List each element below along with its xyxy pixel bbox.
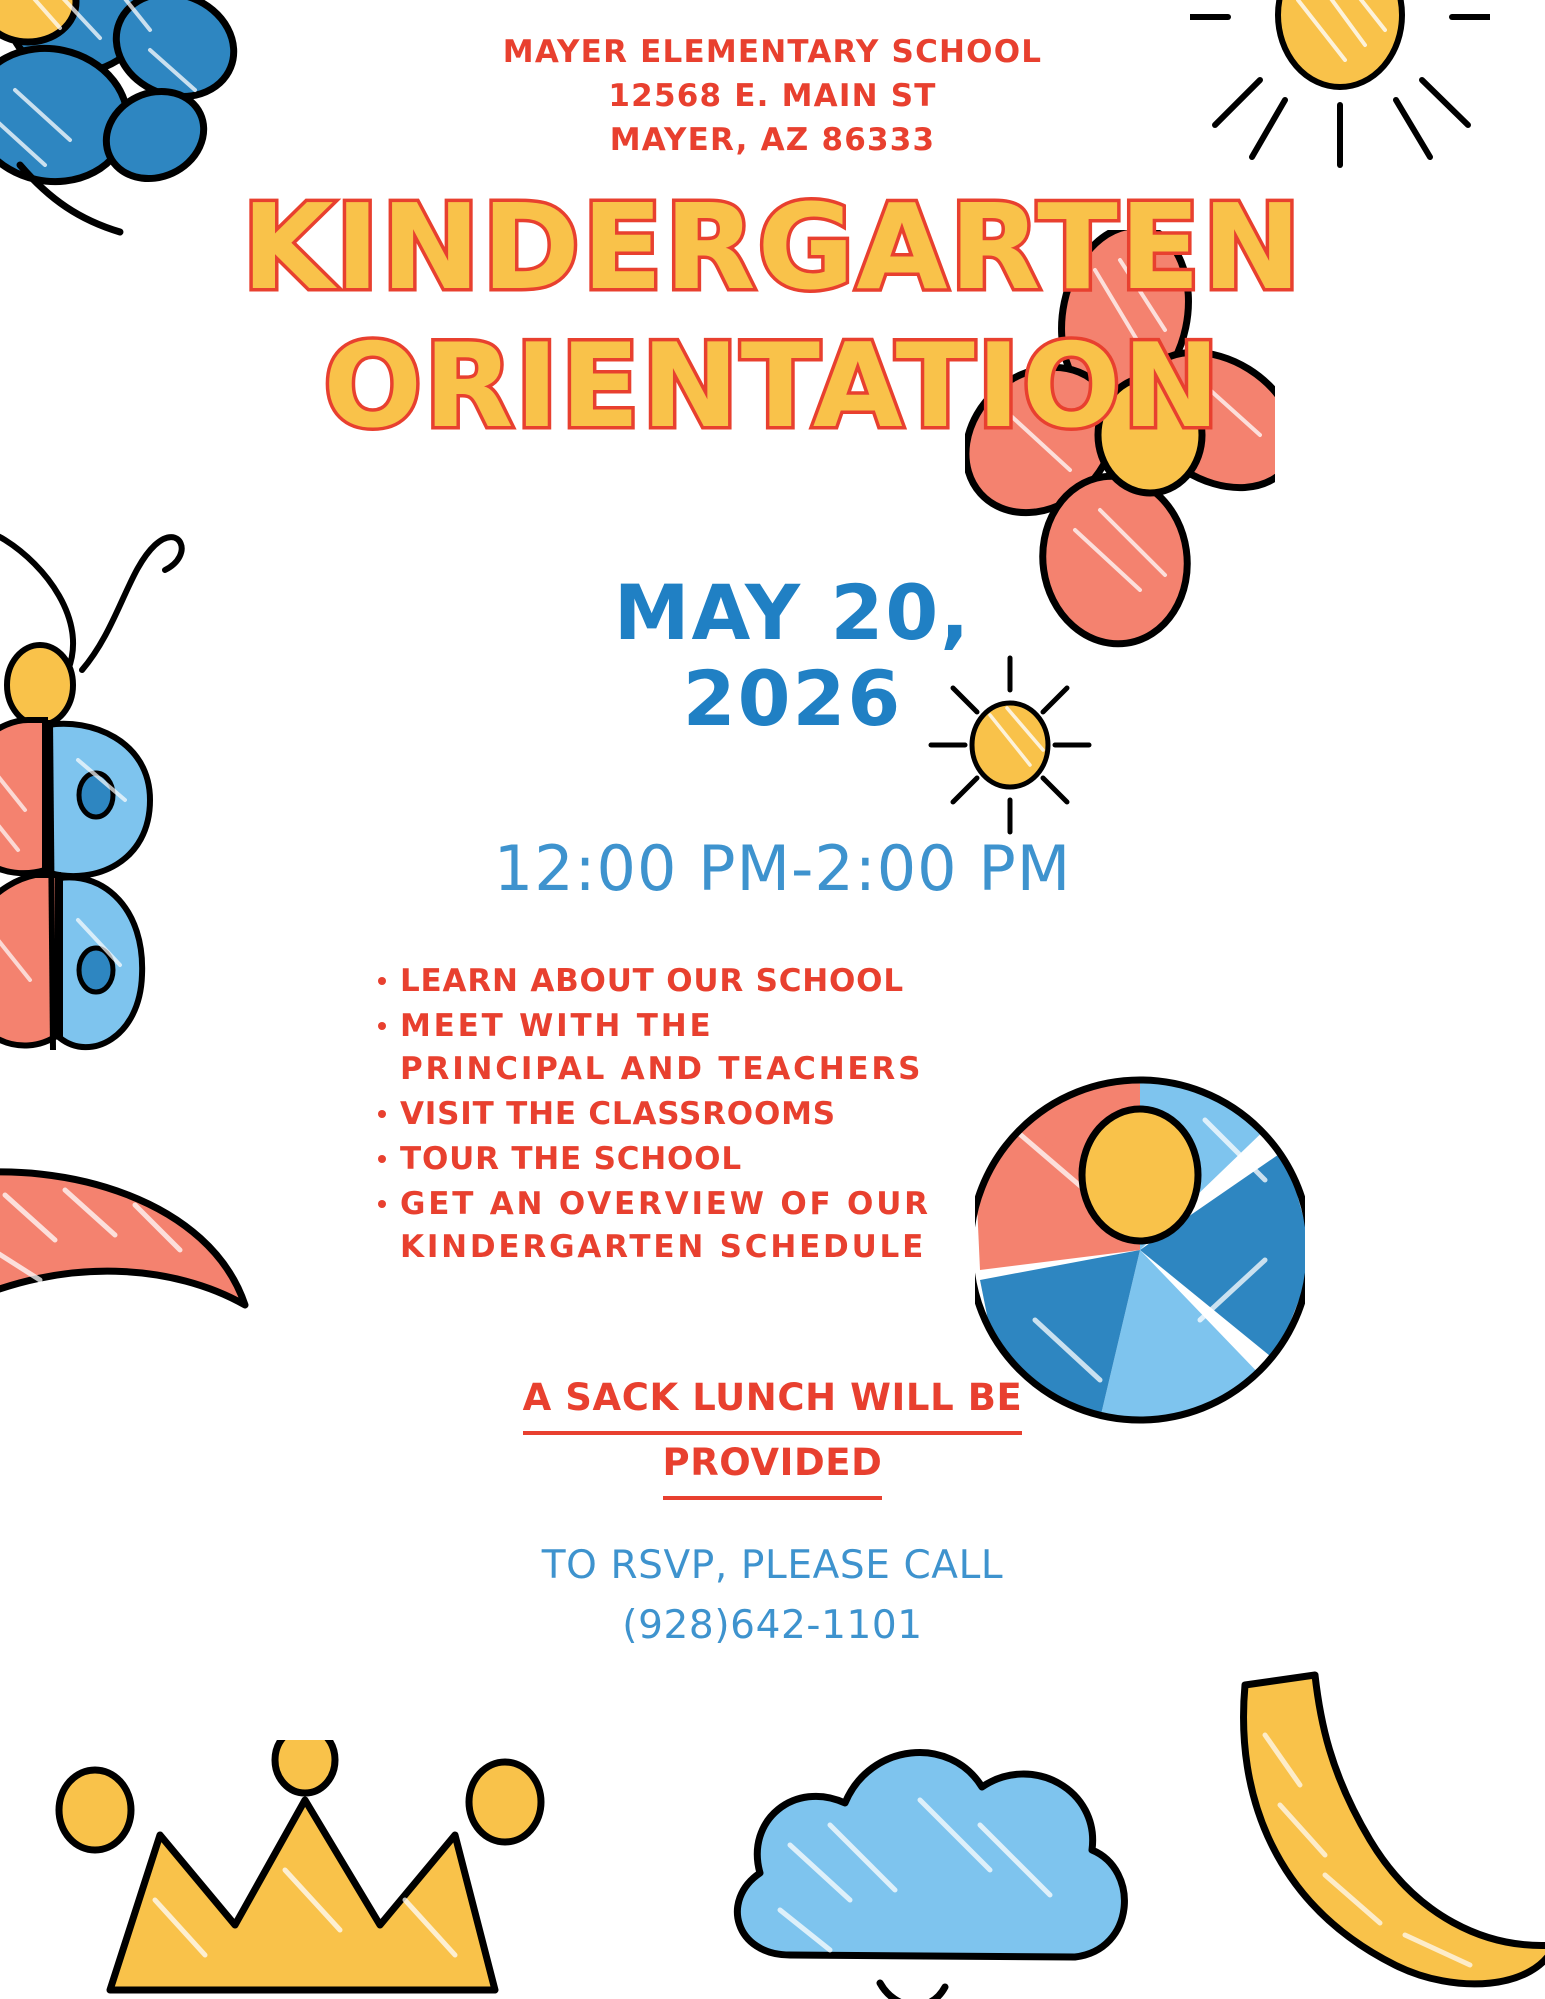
title-line-orientation: ORIENTATION [0, 328, 1545, 446]
rsvp-instruction: TO RSVP, PLEASE CALL [0, 1536, 1545, 1596]
flyer-canvas: MAYER ELEMENTARY SCHOOL 12568 E. MAIN ST… [0, 0, 1545, 1999]
lunch-note-line1: A SACK LUNCH WILL BE [523, 1370, 1023, 1435]
list-item: LEARN ABOUT OUR SCHOOL [374, 960, 934, 1003]
event-date: MAY 20, 2026 [0, 570, 1545, 742]
rsvp-block: TO RSVP, PLEASE CALL (928)642-1101 [0, 1536, 1545, 1656]
event-date-line1: MAY 20, [0, 570, 1545, 656]
list-item: VISIT THE CLASSROOMS [374, 1093, 934, 1136]
list-item: MEET WITH THE PRINCIPAL AND TEACHERS [374, 1005, 934, 1091]
lunch-note-line2: PROVIDED [663, 1435, 883, 1500]
agenda-list: LEARN ABOUT OUR SCHOOL MEET WITH THE PRI… [374, 960, 934, 1271]
event-time: 12:00 PM-2:00 PM [0, 832, 1545, 905]
flyer-content: MAYER ELEMENTARY SCHOOL 12568 E. MAIN ST… [0, 0, 1545, 1999]
title-line-kindergarten: KINDERGARTEN [0, 188, 1545, 306]
list-item: GET AN OVERVIEW OF OUR KINDERGARTEN SCHE… [374, 1183, 934, 1269]
page-title: KINDERGARTEN ORIENTATION [0, 188, 1545, 446]
event-date-line2: 2026 [0, 656, 1545, 742]
school-address-block: MAYER ELEMENTARY SCHOOL 12568 E. MAIN ST… [0, 30, 1545, 162]
school-name: MAYER ELEMENTARY SCHOOL [0, 30, 1545, 74]
lunch-note: A SACK LUNCH WILL BE PROVIDED [0, 1370, 1545, 1500]
school-city-state-zip: MAYER, AZ 86333 [0, 118, 1545, 162]
list-item: TOUR THE SCHOOL [374, 1138, 934, 1181]
rsvp-phone-number[interactable]: (928)642-1101 [0, 1596, 1545, 1656]
school-street: 12568 E. MAIN ST [0, 74, 1545, 118]
